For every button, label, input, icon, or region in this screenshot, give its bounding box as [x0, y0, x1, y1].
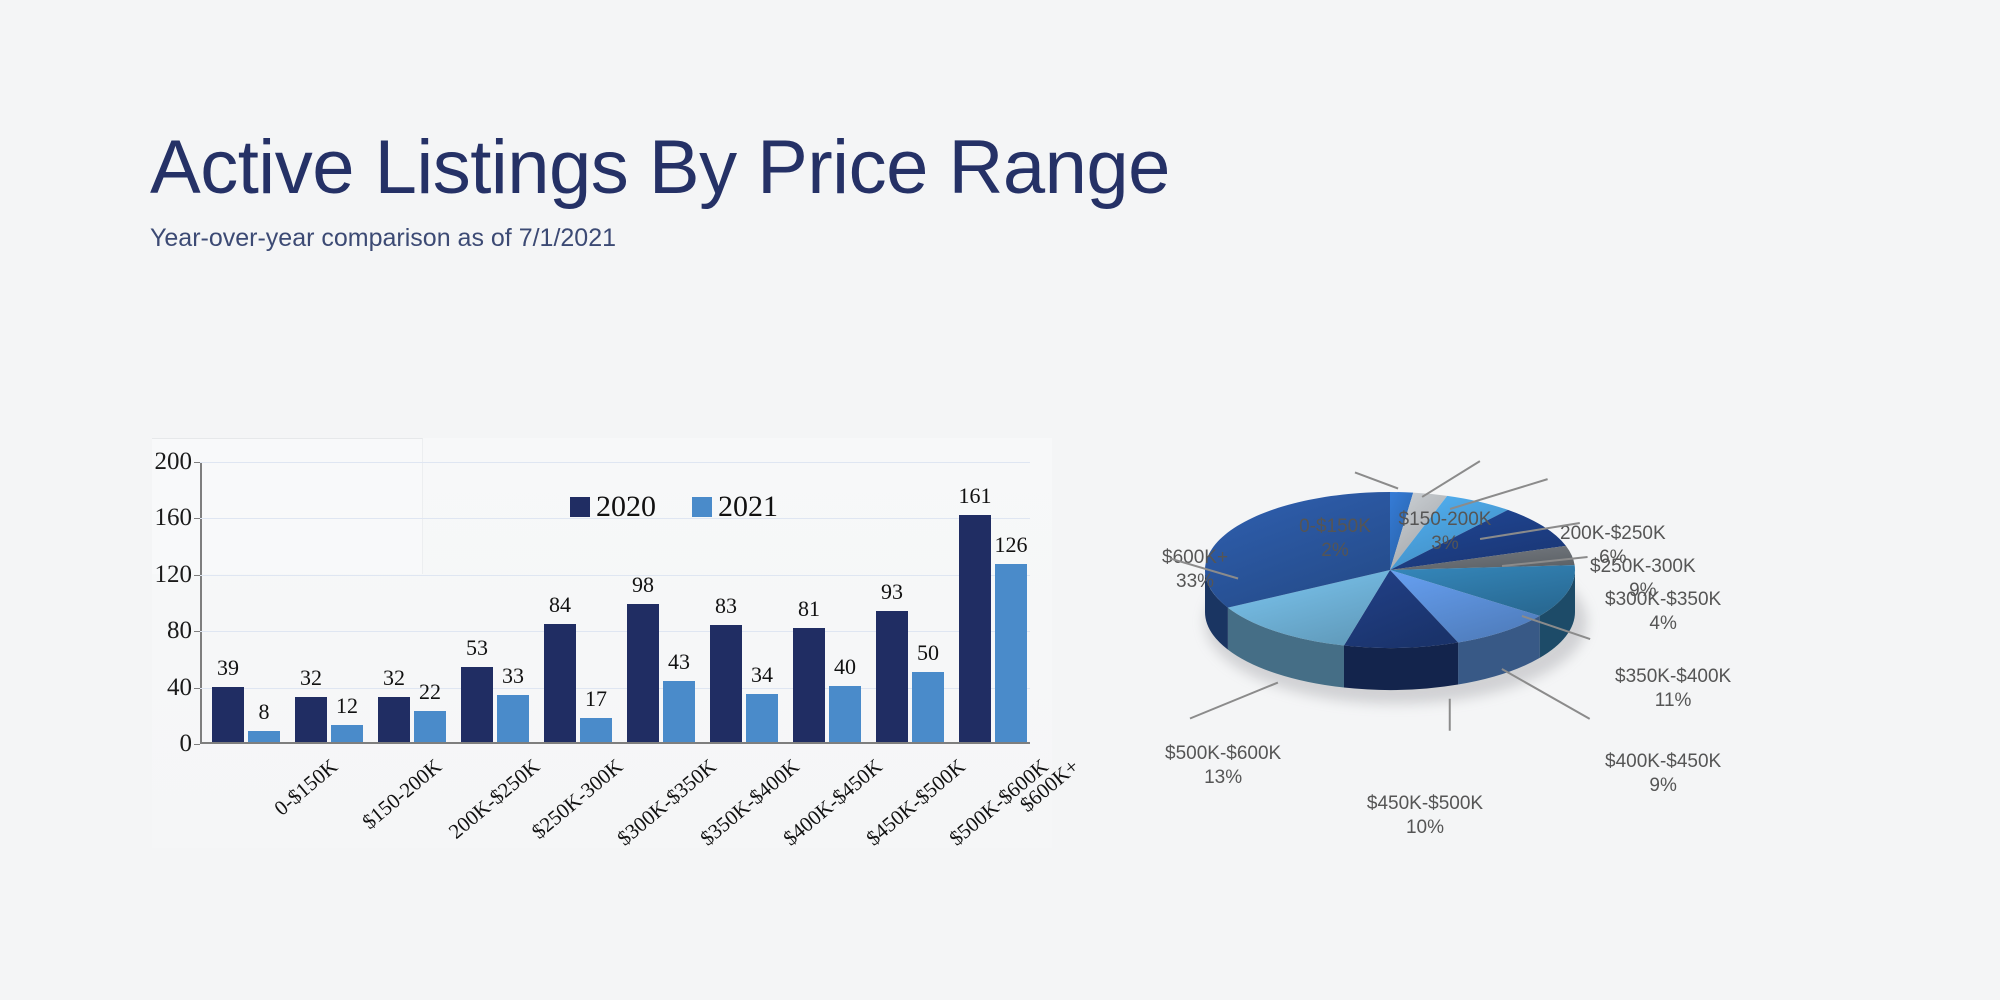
bar-2021[interactable] — [331, 725, 363, 742]
bar-group: 9350 — [870, 460, 953, 742]
bar-group: 3212 — [289, 460, 372, 742]
bar-2020[interactable] — [876, 611, 908, 742]
bar-2021[interactable] — [414, 711, 446, 742]
pie-callout: $600K+33% — [1162, 546, 1228, 594]
bar-value-label: 12 — [317, 693, 377, 719]
bar-2021[interactable] — [248, 731, 280, 742]
pie-callout: $450K-$500K10% — [1367, 792, 1483, 840]
y-axis-tick-label: 0 — [122, 730, 192, 758]
pie-callout-label: $150-200K — [1399, 509, 1492, 530]
bar-2021[interactable] — [663, 681, 695, 742]
y-axis-tickmark — [194, 575, 200, 576]
pie-callout: $350K-$400K11% — [1615, 665, 1731, 713]
bar-value-label: 8 — [234, 699, 294, 725]
pie-callout-label: $500K-$600K — [1165, 743, 1281, 764]
bar-group: 5333 — [455, 460, 538, 742]
bar-value-label: 32 — [281, 665, 341, 691]
y-axis-tickmark — [194, 744, 200, 745]
pie-callout-label: $250K-300K — [1590, 556, 1696, 577]
bar-value-label: 43 — [649, 649, 709, 675]
bar-plot-area: 04080120160200 3983212322253338417984383… — [200, 462, 1030, 744]
pie-callout-label: $450K-$500K — [1367, 793, 1483, 814]
x-axis-line — [200, 742, 1030, 744]
bar-group: 398 — [206, 460, 289, 742]
pie-callout-label: 0-$150K — [1299, 516, 1371, 537]
bar-group: 161126 — [953, 460, 1036, 742]
page-subtitle: Year-over-year comparison as of 7/1/2021 — [150, 224, 1170, 253]
y-axis-tickmark — [194, 518, 200, 519]
pie-callout: 0-$150K2% — [1299, 515, 1371, 563]
y-axis-tick-label: 160 — [122, 504, 192, 532]
bar-group: 3222 — [372, 460, 455, 742]
legend-swatch-icon — [570, 497, 590, 517]
pie-callout-percent: 3% — [1399, 532, 1492, 556]
bar-chart: 04080120160200 3983212322253338417984383… — [152, 438, 1052, 848]
pie-callout-label: $350K-$400K — [1615, 666, 1731, 687]
bar-2021[interactable] — [580, 718, 612, 742]
page-title: Active Listings By Price Range — [150, 128, 1170, 208]
chart-legend: 20202021 — [570, 490, 778, 524]
legend-item-2021[interactable]: 2021 — [692, 490, 778, 524]
y-axis-tick-label: 120 — [122, 561, 192, 589]
pie-top-faces — [1205, 492, 1575, 648]
bar-2021[interactable] — [995, 564, 1027, 742]
bar-value-label: 39 — [198, 655, 258, 681]
bar-value-label: 40 — [815, 654, 875, 680]
pie-callout-label: $400K-$450K — [1605, 751, 1721, 772]
bar-2020[interactable] — [793, 628, 825, 742]
slide-canvas: Active Listings By Price Range Year-over… — [0, 0, 2000, 1000]
x-axis-label: 0-$150K — [269, 754, 342, 821]
pie-callout-percent: 10% — [1367, 816, 1483, 840]
pie-slice-side — [1344, 643, 1458, 690]
y-axis-tick-label: 200 — [122, 448, 192, 476]
y-axis-tick-label: 80 — [122, 617, 192, 645]
bar-value-label: 22 — [400, 679, 460, 705]
y-axis-tick-label: 40 — [122, 674, 192, 702]
bar-group: 8140 — [787, 460, 870, 742]
bar-value-label: 161 — [945, 483, 1005, 509]
bar-value-label: 34 — [732, 662, 792, 688]
pie-callout-label: 200K-$250K — [1560, 523, 1666, 544]
bar-value-label: 33 — [483, 663, 543, 689]
y-axis-tickmark — [194, 631, 200, 632]
pie-callout: $300K-$350K4% — [1605, 588, 1721, 636]
bar-value-label: 98 — [613, 572, 673, 598]
bar-value-label: 93 — [862, 579, 922, 605]
y-axis-line — [200, 462, 202, 744]
pie-callout-percent: 4% — [1605, 612, 1721, 636]
bar-value-label: 126 — [981, 532, 1041, 558]
pie-callout: $150-200K3% — [1399, 508, 1492, 556]
bar-2021[interactable] — [829, 686, 861, 742]
bar-2021[interactable] — [746, 694, 778, 742]
bar-value-label: 17 — [566, 686, 626, 712]
y-axis-tickmark — [194, 688, 200, 689]
pie-callout-percent: 9% — [1605, 774, 1721, 798]
pie-callout: $400K-$450K9% — [1605, 750, 1721, 798]
bar-2021[interactable] — [912, 672, 944, 743]
pie-callout-label: $300K-$350K — [1605, 589, 1721, 610]
pie-leader-line — [1449, 699, 1451, 731]
pie-callout: $500K-$600K13% — [1165, 742, 1281, 790]
x-axis-label: 200K-$250K — [444, 754, 545, 844]
x-axis-label: $150-200K — [357, 754, 446, 835]
y-axis-tickmark — [194, 462, 200, 463]
bar-2021[interactable] — [497, 695, 529, 742]
legend-label: 2020 — [596, 490, 656, 524]
header: Active Listings By Price Range Year-over… — [150, 128, 1170, 253]
legend-item-2020[interactable]: 2020 — [570, 490, 656, 524]
bar-2020[interactable] — [544, 624, 576, 742]
bar-value-label: 84 — [530, 592, 590, 618]
pie-callout-percent: 13% — [1165, 766, 1281, 790]
bar-value-label: 83 — [696, 593, 756, 619]
bar-value-label: 53 — [447, 635, 507, 661]
bar-value-label: 81 — [779, 596, 839, 622]
legend-label: 2021 — [718, 490, 778, 524]
legend-swatch-icon — [692, 497, 712, 517]
pie-callout-percent: 11% — [1615, 689, 1731, 713]
pie-chart: 0-$150K2%$150-200K3%200K-$250K6%$250K-30… — [1150, 430, 1710, 760]
pie-callout-percent: 2% — [1299, 539, 1371, 563]
bar-value-label: 50 — [898, 640, 958, 666]
